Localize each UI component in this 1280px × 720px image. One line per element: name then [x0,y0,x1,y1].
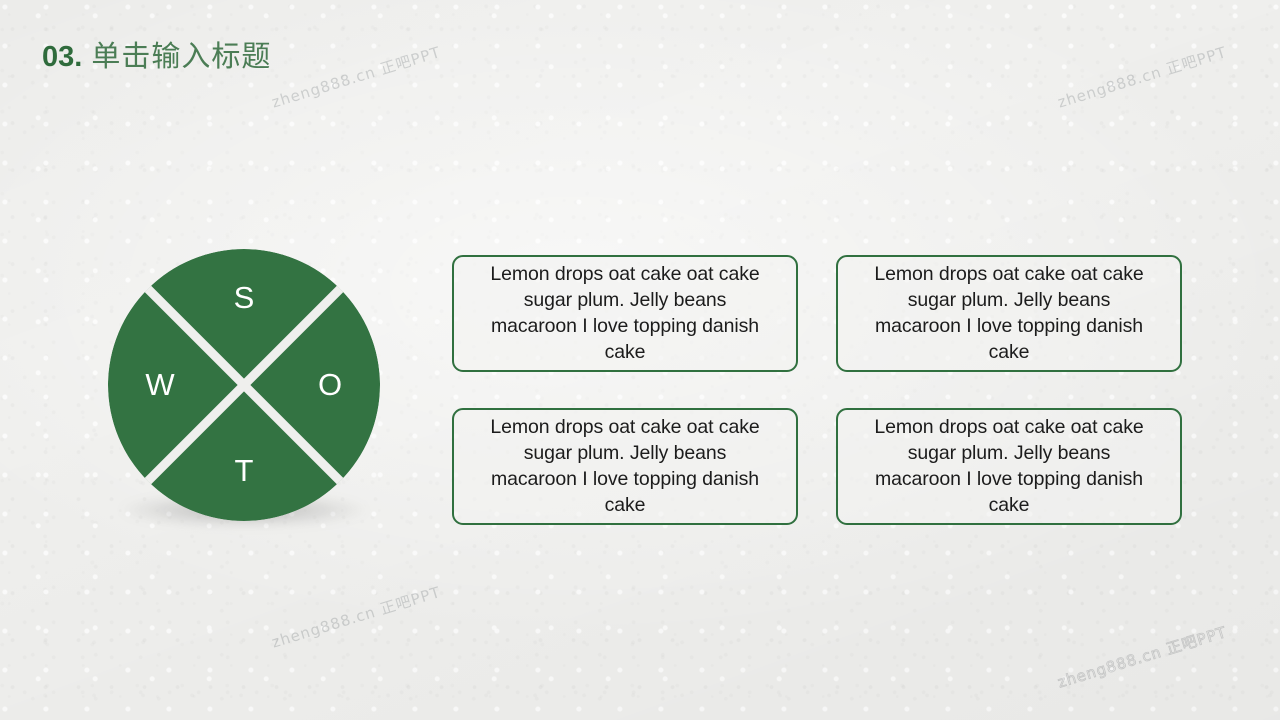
swot-text-box-weaknesses[interactable]: Lemon drops oat cake oat cake sugar plum… [452,408,798,525]
page-title: 03. 单击输入标题 [42,33,271,75]
watermark: zheng888.cn 正吧PPT [269,581,443,652]
slide-canvas: 03. 单击输入标题 S W O T Lemon drops oat cake … [0,0,1280,720]
swot-segment-w-label[interactable]: W [140,369,180,400]
swot-text-box-threats[interactable]: Lemon drops oat cake oat cake sugar plum… [836,408,1182,525]
swot-text-box-body: Lemon drops oat cake oat cake sugar plum… [480,261,770,365]
swot-segment-t-label[interactable]: T [224,455,264,486]
title-text: 单击输入标题 [91,33,271,75]
title-number: 03. [42,41,82,74]
swot-segment-s-label[interactable]: S [224,282,264,313]
swot-text-box-body: Lemon drops oat cake oat cake sugar plum… [864,414,1154,518]
watermark: zheng888.cn 正吧PPT [1055,41,1229,112]
watermark: zheng888.cn 正吧PPT [1055,621,1229,692]
swot-text-box-strengths[interactable]: Lemon drops oat cake oat cake sugar plum… [452,255,798,372]
swot-diagram: S W O T [108,249,380,521]
swot-text-box-body: Lemon drops oat cake oat cake sugar plum… [864,261,1154,365]
watermark: zheng888.cn 正吧PPT [269,41,443,112]
swot-text-box-body: Lemon drops oat cake oat cake sugar plum… [480,414,770,518]
swot-text-box-opportunities[interactable]: Lemon drops oat cake oat cake sugar plum… [836,255,1182,372]
swot-segment-o-label[interactable]: O [310,369,350,400]
